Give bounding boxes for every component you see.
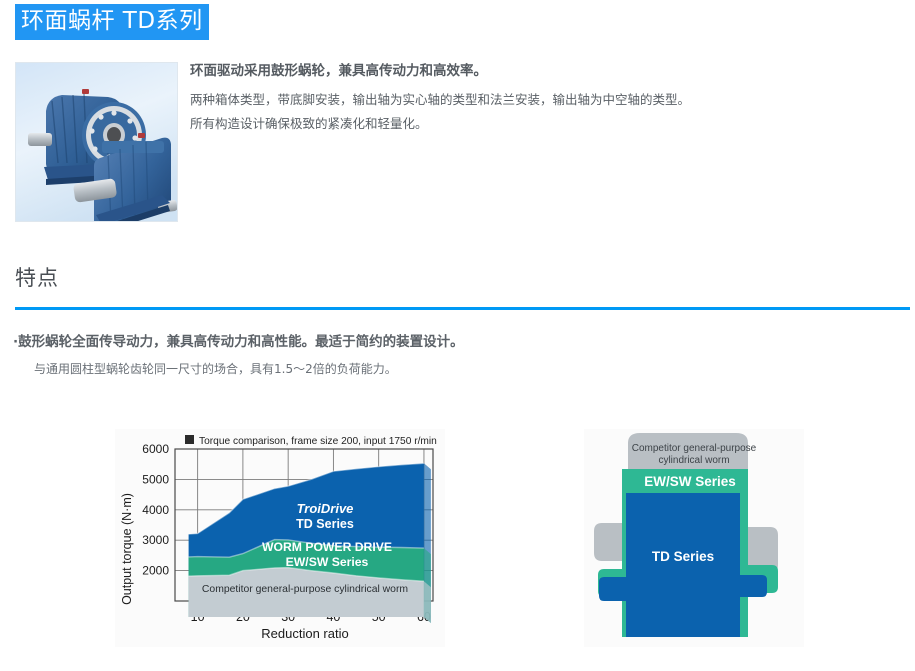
chart-area-side-face: [424, 581, 431, 623]
product-photo: [15, 62, 178, 222]
diagram-svg: Competitor general-purpose cylindrical w…: [584, 429, 804, 647]
chart-y-tick: 2000: [142, 564, 169, 578]
chart-title: Torque comparison, frame size 200, input…: [199, 436, 437, 447]
hero-section: 环面驱动采用鼓形蜗轮，兼具高传动力和高效率。 两种箱体类型，带底脚安装，输出轴为…: [0, 60, 915, 230]
chart-y-axis-label: Output torque (N·m): [120, 493, 134, 605]
series-label-competitor: Competitor general-purpose cylindrical w…: [202, 584, 408, 595]
hero-text-block: 环面驱动采用鼓形蜗轮，兼具高传动力和高效率。 两种箱体类型，带底脚安装，输出轴为…: [190, 60, 890, 136]
chart-y-tick: 4000: [142, 503, 169, 517]
hero-line-2: 所有构造设计确保极致的紧凑化和轻量化。: [190, 112, 890, 136]
diagram-label-td: TD Series: [652, 549, 714, 564]
chart-title-marker: [185, 435, 194, 444]
diagram-label-competitor-line2: cylindrical worm: [658, 455, 729, 466]
gearbox-photo-illustration: [16, 63, 177, 221]
features-heading: 特点: [15, 262, 59, 292]
series-label-ew-series: EW/SW Series: [286, 555, 369, 569]
hero-line-1: 两种箱体类型，带底脚安装，输出轴为实心轴的类型和法兰安装，输出轴为中空轴的类型。: [190, 88, 890, 112]
series-label-td-series: TD Series: [296, 517, 354, 531]
chart-x-axis-label: Reduction ratio: [261, 626, 348, 641]
size-comparison-diagram: Competitor general-purpose cylindrical w…: [584, 429, 804, 647]
torque-comparison-chart: Torque comparison, frame size 200, input…: [115, 429, 445, 647]
series-label-td-brand: TroiDrive: [297, 501, 354, 516]
chart-y-tick: 3000: [142, 533, 169, 547]
chart-y-tick: 5000: [142, 472, 169, 486]
features-divider: [15, 307, 910, 310]
hero-lead-text: 环面驱动采用鼓形蜗轮，兼具高传动力和高效率。: [190, 60, 890, 82]
feature-bullet-subtext: 与通用圆柱型蜗轮齿轮同一尺寸的场合，具有1.5～2倍的负荷能力。: [34, 360, 397, 377]
chart-y-tick: 6000: [142, 442, 169, 456]
diagram-label-ewsw: EW/SW Series: [644, 474, 736, 489]
figures-row: Torque comparison, frame size 200, input…: [0, 408, 915, 658]
page-title: 环面蜗杆 TD系列: [15, 4, 209, 40]
series-label-ew-title: WORM POWER DRIVE: [262, 540, 392, 554]
chart-svg: Torque comparison, frame size 200, input…: [115, 429, 445, 647]
feature-bullet-heading: ·鼓形蜗轮全面传导动力，兼具高传动力和高性能。最适于简约的装置设计。: [13, 330, 464, 350]
diagram-label-competitor-line1: Competitor general-purpose: [632, 443, 757, 454]
